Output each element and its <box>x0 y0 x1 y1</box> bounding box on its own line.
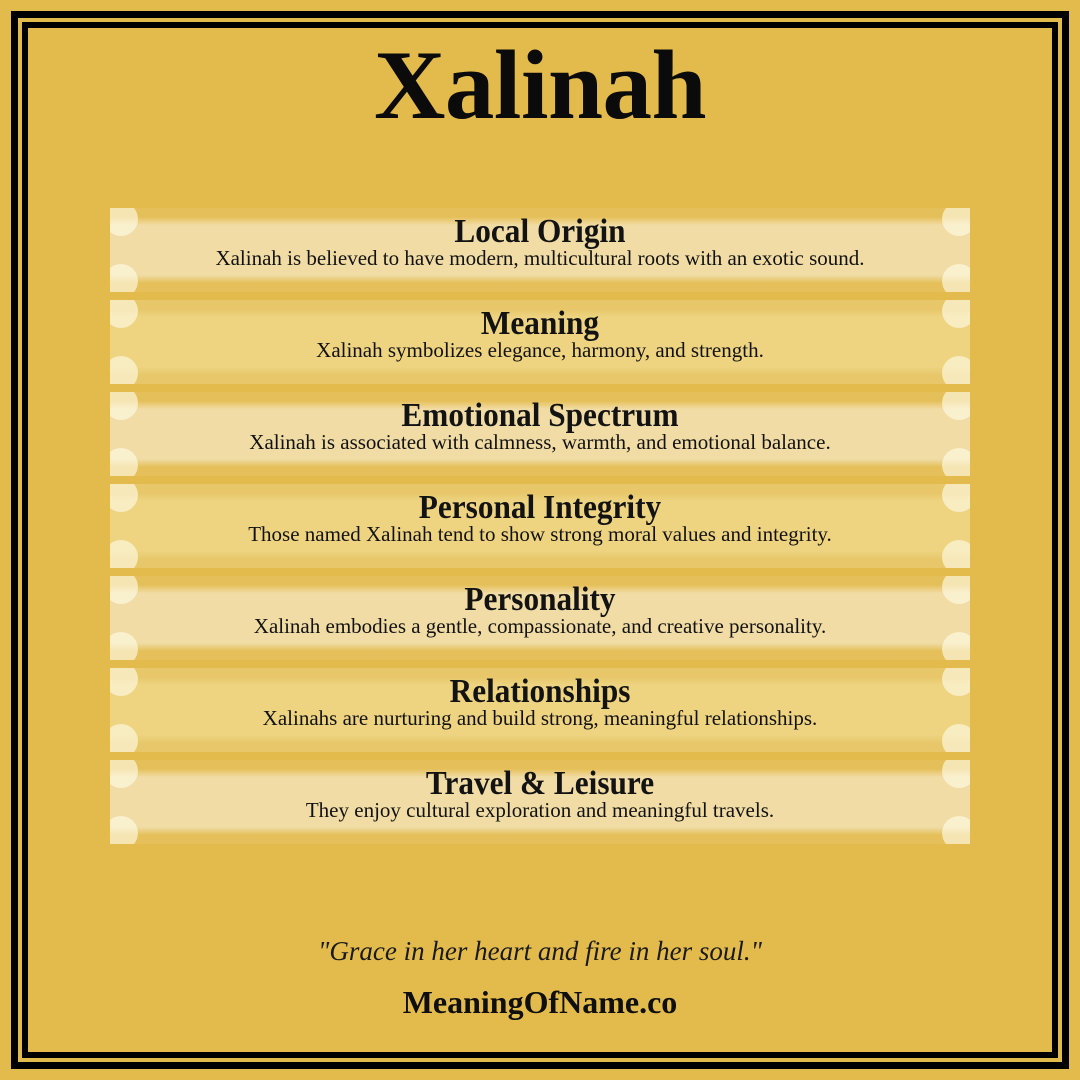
attribute-card-body: Xalinah embodies a gentle, compassionate… <box>110 616 970 637</box>
attribute-card-text: PersonalityXalinah embodies a gentle, co… <box>110 576 970 660</box>
tagline-quote: "Grace in her heart and fire in her soul… <box>0 936 1080 967</box>
attribute-card-heading: Meaning <box>144 307 935 341</box>
attribute-card-heading: Local Origin <box>144 215 935 249</box>
attribute-card: Travel & LeisureThey enjoy cultural expl… <box>110 760 970 844</box>
attribute-card: MeaningXalinah symbolizes elegance, harm… <box>110 300 970 384</box>
attribute-card-heading: Relationships <box>144 675 935 709</box>
poster-content: Xalinah Local OriginXalinah is believed … <box>0 0 1080 1080</box>
attribute-card: Emotional SpectrumXalinah is associated … <box>110 392 970 476</box>
attribute-card: PersonalityXalinah embodies a gentle, co… <box>110 576 970 660</box>
attribute-card: Local OriginXalinah is believed to have … <box>110 208 970 292</box>
attribute-card: RelationshipsXalinahs are nurturing and … <box>110 668 970 752</box>
attribute-card-text: MeaningXalinah symbolizes elegance, harm… <box>110 300 970 384</box>
attribute-card-heading: Emotional Spectrum <box>144 399 935 433</box>
attribute-card-text: RelationshipsXalinahs are nurturing and … <box>110 668 970 752</box>
attribute-card-heading: Personality <box>144 583 935 617</box>
attribute-card-body: Xalinah is believed to have modern, mult… <box>110 248 970 269</box>
attribute-card-body: Xalinah is associated with calmness, war… <box>110 432 970 453</box>
attribute-card: Personal IntegrityThose named Xalinah te… <box>110 484 970 568</box>
attribute-card-text: Personal IntegrityThose named Xalinah te… <box>110 484 970 568</box>
attribute-card-body: Xalinah symbolizes elegance, harmony, an… <box>110 340 970 361</box>
attribute-card-body: They enjoy cultural exploration and mean… <box>110 800 970 821</box>
name-meaning-poster: Xalinah Local OriginXalinah is believed … <box>0 0 1080 1080</box>
brand-watermark: MeaningOfName.co <box>0 984 1080 1021</box>
attribute-card-text: Emotional SpectrumXalinah is associated … <box>110 392 970 476</box>
page-title: Xalinah <box>0 34 1080 138</box>
attribute-card-body: Those named Xalinah tend to show strong … <box>110 524 970 545</box>
attribute-card-heading: Travel & Leisure <box>144 767 935 801</box>
attribute-card-heading: Personal Integrity <box>144 491 935 525</box>
attribute-card-body: Xalinahs are nurturing and build strong,… <box>110 708 970 729</box>
attribute-card-list: Local OriginXalinah is believed to have … <box>110 208 970 852</box>
attribute-card-text: Travel & LeisureThey enjoy cultural expl… <box>110 760 970 844</box>
attribute-card-text: Local OriginXalinah is believed to have … <box>110 208 970 292</box>
